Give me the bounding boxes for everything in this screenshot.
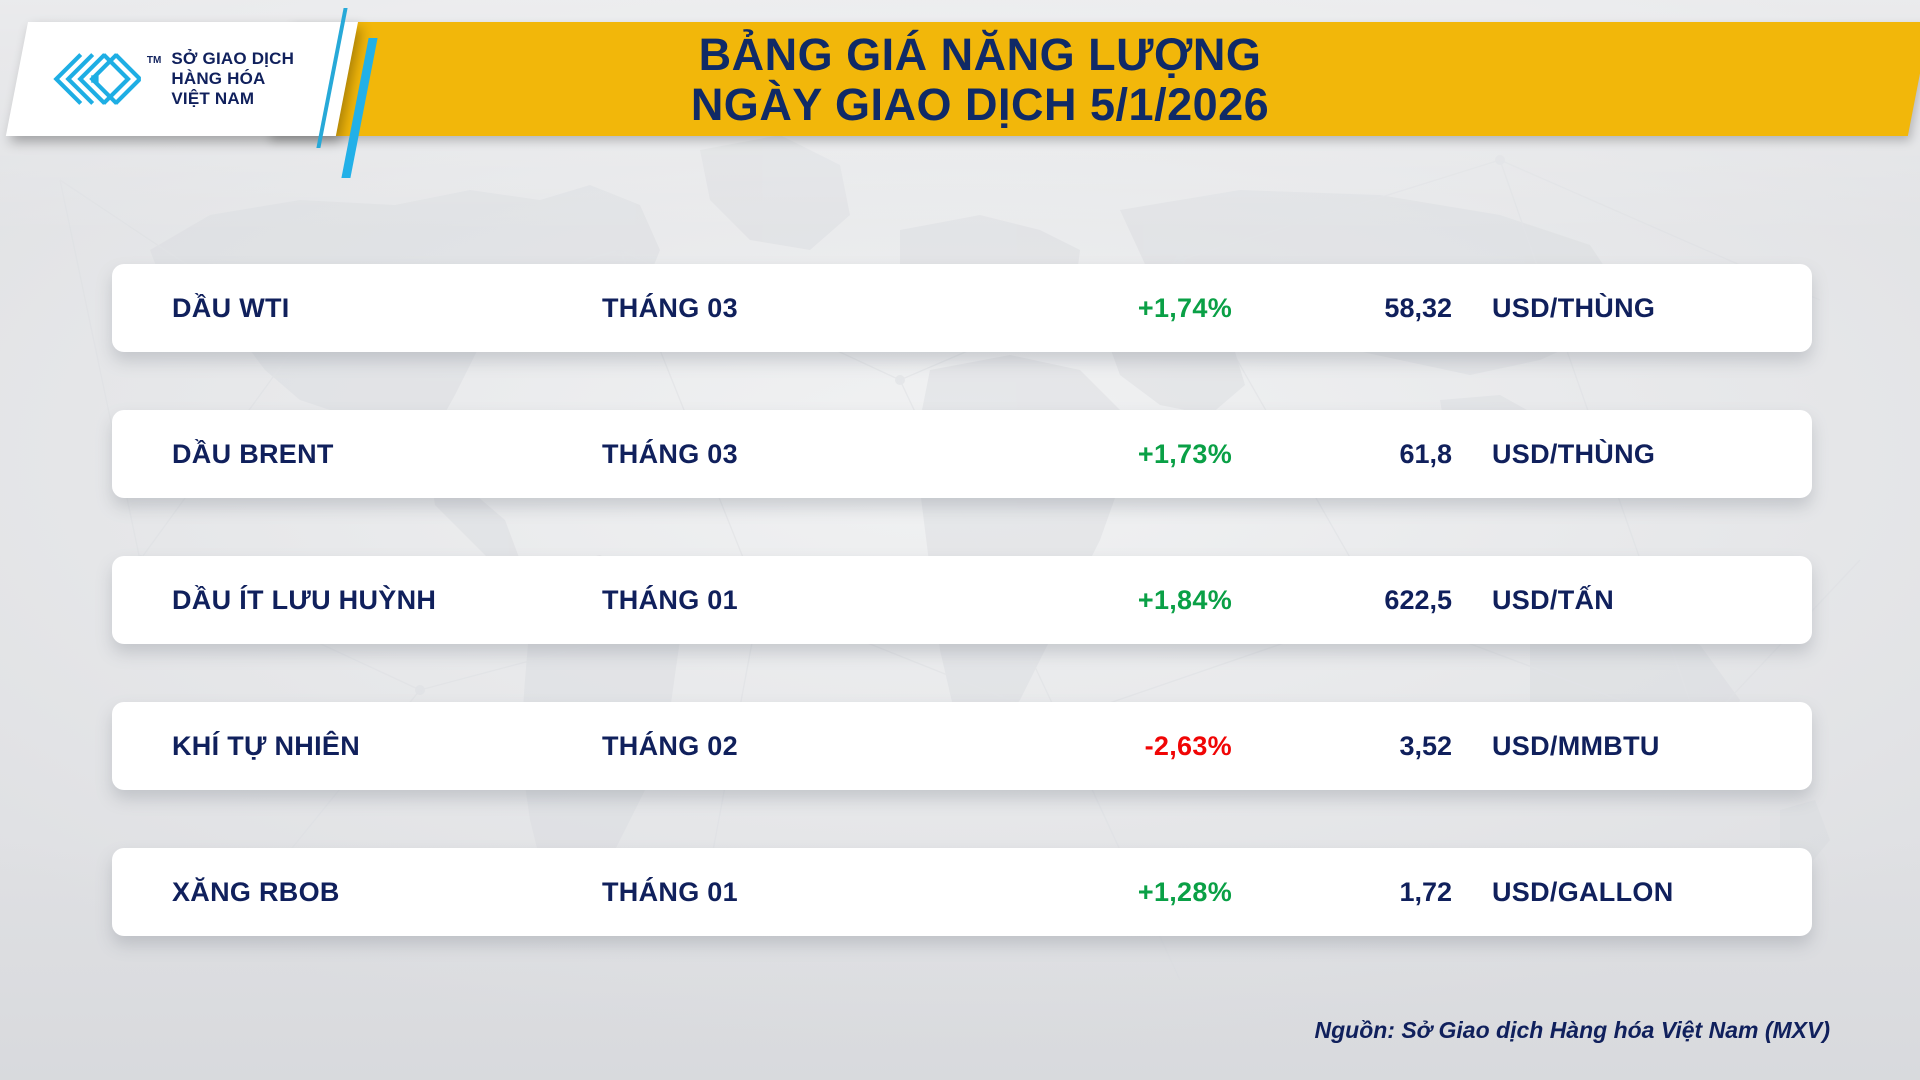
- change-percent: +1,74%: [932, 293, 1232, 324]
- price-unit: USD/GALLON: [1492, 877, 1812, 908]
- contract-month: THÁNG 03: [602, 293, 932, 324]
- price-value: 622,5: [1232, 585, 1492, 616]
- contract-month: THÁNG 01: [602, 877, 932, 908]
- contract-month: THÁNG 02: [602, 731, 932, 762]
- change-percent: +1,28%: [932, 877, 1232, 908]
- commodity-name: DẦU ÍT LƯU HUỲNH: [112, 585, 602, 616]
- title-line-2: NGÀY GIAO DỊCH 5/1/2026: [0, 80, 1920, 130]
- price-value: 3,52: [1232, 731, 1492, 762]
- price-value: 58,32: [1232, 293, 1492, 324]
- price-unit: USD/TẤN: [1492, 585, 1812, 616]
- page-header: TM SỞ GIAO DỊCH HÀNG HÓA VIỆT NAM BẢNG G…: [0, 0, 1920, 160]
- commodity-name: KHÍ TỰ NHIÊN: [112, 731, 602, 762]
- commodity-name: XĂNG RBOB: [112, 877, 602, 908]
- commodity-name: DẦU BRENT: [112, 439, 602, 470]
- price-unit: USD/THÙNG: [1492, 439, 1812, 470]
- commodity-name: DẦU WTI: [112, 293, 602, 324]
- table-row[interactable]: KHÍ TỰ NHIÊNTHÁNG 02-2,63%3,52USD/MMBTU: [112, 702, 1812, 790]
- energy-price-table: DẦU WTITHÁNG 03+1,74%58,32USD/THÙNGDẦU B…: [112, 264, 1812, 936]
- table-row[interactable]: DẦU BRENTTHÁNG 03+1,73%61,8USD/THÙNG: [112, 410, 1812, 498]
- price-value: 61,8: [1232, 439, 1492, 470]
- table-row[interactable]: XĂNG RBOBTHÁNG 01+1,28%1,72USD/GALLON: [112, 848, 1812, 936]
- title-line-1: BẢNG GIÁ NĂNG LƯỢNG: [0, 30, 1920, 80]
- price-value: 1,72: [1232, 877, 1492, 908]
- contract-month: THÁNG 01: [602, 585, 932, 616]
- table-row[interactable]: DẦU ÍT LƯU HUỲNHTHÁNG 01+1,84%622,5USD/T…: [112, 556, 1812, 644]
- price-unit: USD/MMBTU: [1492, 731, 1812, 762]
- page-title: BẢNG GIÁ NĂNG LƯỢNG NGÀY GIAO DỊCH 5/1/2…: [0, 30, 1920, 131]
- table-row[interactable]: DẦU WTITHÁNG 03+1,74%58,32USD/THÙNG: [112, 264, 1812, 352]
- price-unit: USD/THÙNG: [1492, 293, 1812, 324]
- contract-month: THÁNG 03: [602, 439, 932, 470]
- source-note: Nguồn: Sở Giao dịch Hàng hóa Việt Nam (M…: [1314, 1017, 1830, 1044]
- change-percent: +1,84%: [932, 585, 1232, 616]
- change-percent: -2,63%: [932, 731, 1232, 762]
- change-percent: +1,73%: [932, 439, 1232, 470]
